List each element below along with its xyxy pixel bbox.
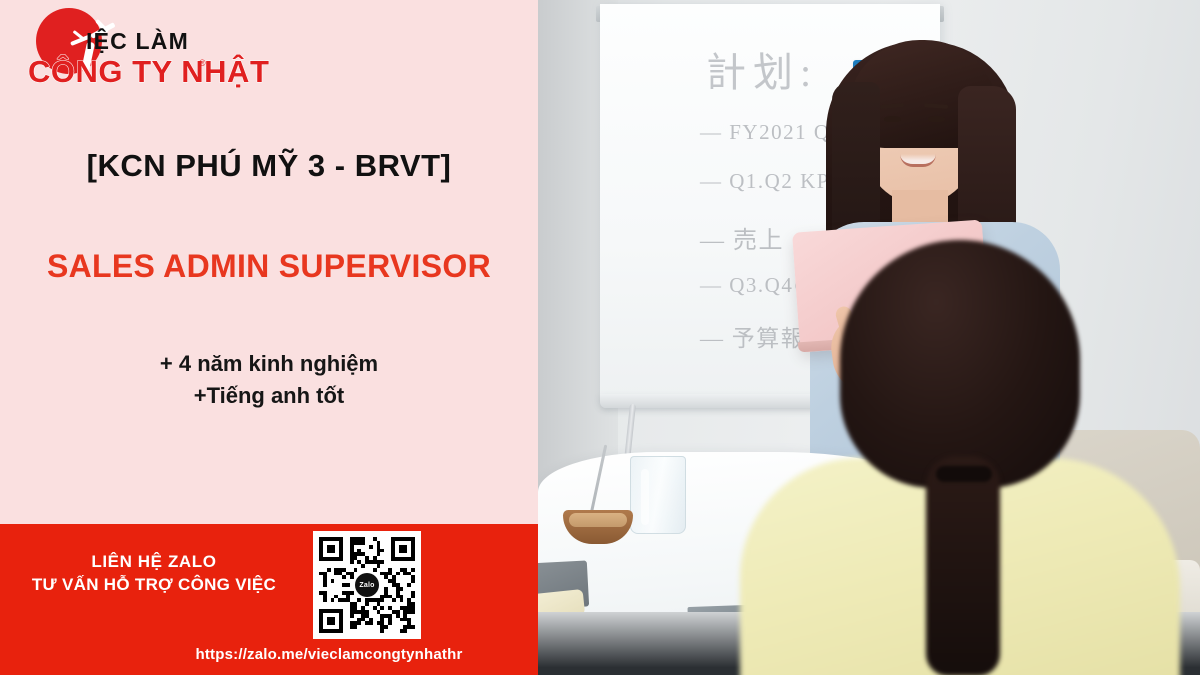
logo-text-bottom: CÔNG TY NHẬT bbox=[28, 54, 269, 90]
requirement-item: +Tiếng anh tốt bbox=[0, 380, 538, 412]
zalo-logo-icon: Zalo bbox=[355, 573, 379, 597]
foreground-person bbox=[806, 230, 1200, 675]
ponytail bbox=[926, 456, 1000, 675]
job-title: SALES ADMIN SUPERVISOR bbox=[0, 248, 538, 285]
zalo-url[interactable]: https://zalo.me/vieclamcongtynhathr bbox=[0, 646, 538, 663]
dark-hair bbox=[840, 240, 1080, 488]
left-info-panel: IỆC LÀM CÔNG TY NHẬT ® [KCN PHÚ MỸ 3 - B… bbox=[0, 0, 538, 524]
whiteboard-line: — 売上 bbox=[700, 220, 784, 255]
job-requirements: + 4 năm kinh nghiệm +Tiếng anh tốt bbox=[0, 348, 538, 412]
zalo-contact-line-2: TƯ VẤN HỖ TRỢ CÔNG VIỆC bbox=[8, 573, 300, 596]
zalo-contact-text: LIÊN HỆ ZALO TƯ VẤN HỖ TRỢ CÔNG VIỆC bbox=[8, 550, 300, 597]
registered-mark: ® bbox=[199, 58, 206, 68]
hair-tie bbox=[936, 466, 992, 482]
company-logo[interactable]: IỆC LÀM CÔNG TY NHẬT ® bbox=[14, 6, 214, 98]
requirement-item: + 4 năm kinh nghiệm bbox=[0, 348, 538, 380]
zalo-qr-code[interactable]: Zalo bbox=[313, 531, 421, 639]
office-photo: 計划: — FY2021 Q1.Q2 目 — Q1.Q2 KPI — 売上 — … bbox=[538, 0, 1200, 675]
water-glass-icon bbox=[630, 456, 686, 534]
zalo-contact-line-1: LIÊN HỆ ZALO bbox=[8, 550, 300, 573]
logo-text-top: IỆC LÀM bbox=[86, 28, 189, 55]
job-location: [KCN PHÚ MỸ 3 - BRVT] bbox=[0, 148, 538, 184]
recruitment-banner: IỆC LÀM CÔNG TY NHẬT ® [KCN PHÚ MỸ 3 - B… bbox=[0, 0, 1200, 675]
